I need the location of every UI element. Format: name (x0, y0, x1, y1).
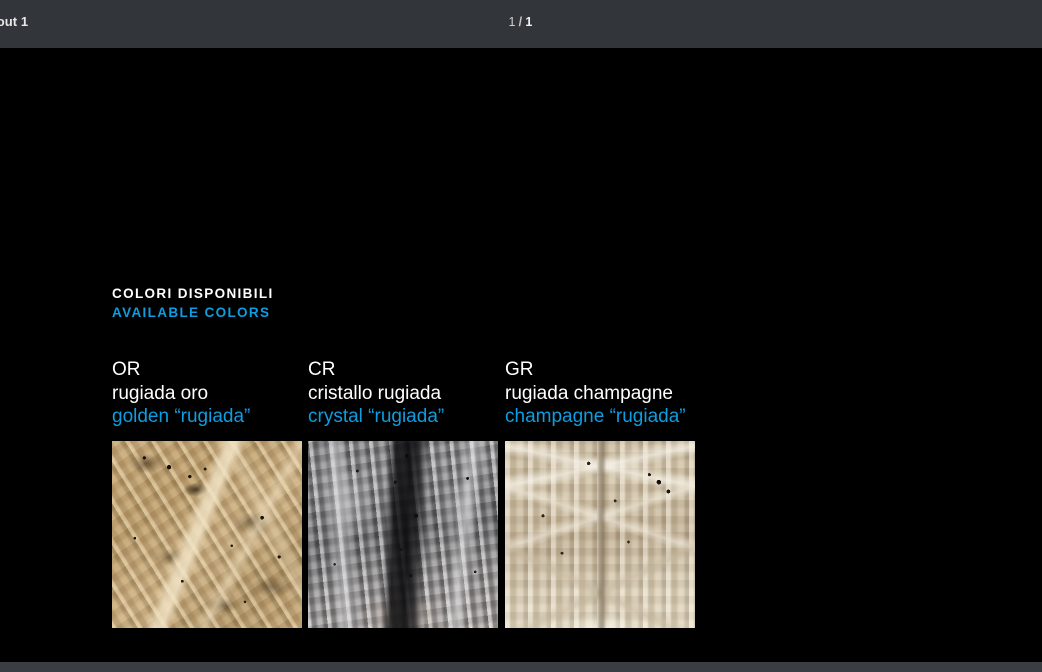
swatch-speckle-overlay-champagne (505, 441, 695, 628)
marble-swatch-champagne (505, 441, 695, 628)
page-total-number: 1 (525, 15, 533, 29)
page-current-number: 1 (509, 15, 517, 29)
color-name-it-cr: cristallo rugiada (308, 382, 498, 406)
pdf-viewer: Layout 1 1/1 COLORI DISPONIBILI AVAILABL… (0, 0, 1042, 672)
section-heading: COLORI DISPONIBILI AVAILABLE COLORS (112, 284, 274, 322)
swatch-speckle-overlay-crystal (308, 441, 498, 628)
viewer-toolbar: Layout 1 1/1 (0, 0, 1042, 48)
heading-italian: COLORI DISPONIBILI (112, 284, 274, 303)
color-labels-or: OR rugiada oro golden “rugiada” (112, 358, 302, 429)
marble-swatch-crystal (308, 441, 498, 628)
color-name-it-gr: rugiada champagne (505, 382, 695, 406)
color-code-gr: GR (505, 358, 695, 382)
color-code-cr: CR (308, 358, 498, 382)
color-name-en-cr: crystal “rugiada” (308, 405, 498, 429)
color-name-en-or: golden “rugiada” (112, 405, 302, 429)
marble-swatch-golden (112, 441, 302, 628)
color-name-it-or: rugiada oro (112, 382, 302, 406)
heading-english: AVAILABLE COLORS (112, 303, 274, 322)
viewer-footer-bar (0, 662, 1042, 672)
color-labels-cr: CR cristallo rugiada crystal “rugiada” (308, 358, 498, 429)
color-labels-gr: GR rugiada champagne champagne “rugiada” (505, 358, 695, 429)
color-column-gr: GR rugiada champagne champagne “rugiada” (505, 358, 695, 628)
color-code-or: OR (112, 358, 302, 382)
color-column-or: OR rugiada oro golden “rugiada” (112, 358, 302, 628)
swatch-speckle-overlay-golden (112, 441, 302, 628)
color-columns: OR rugiada oro golden “rugiada” CR crist… (0, 358, 1042, 648)
pdf-page-canvas[interactable]: COLORI DISPONIBILI AVAILABLE COLORS OR r… (0, 48, 1042, 662)
color-column-cr: CR cristallo rugiada crystal “rugiada” (308, 358, 498, 628)
page-indicator[interactable]: 1/1 (0, 15, 1042, 29)
color-name-en-gr: champagne “rugiada” (505, 405, 695, 429)
